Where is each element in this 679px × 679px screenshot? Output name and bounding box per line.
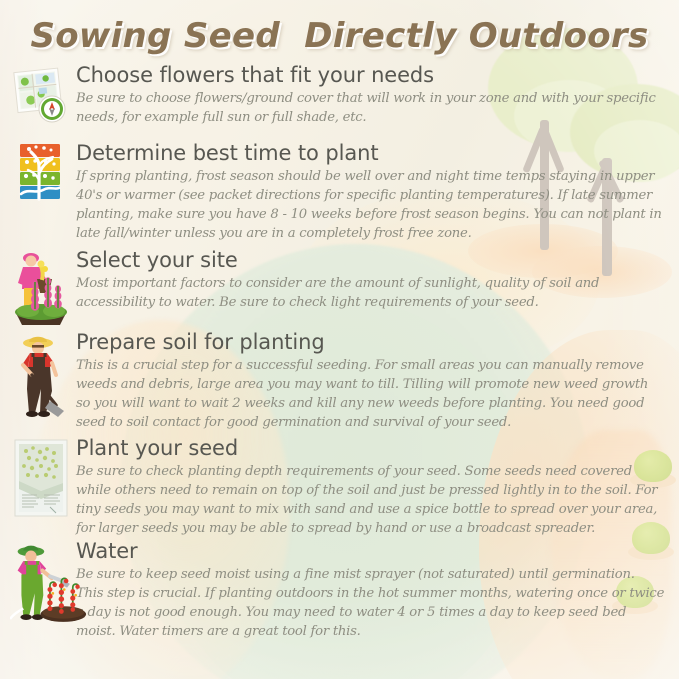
gardener-with-shovel-icon [10,331,72,417]
step-text: Be sure to keep seed moist using a fine … [76,565,665,642]
step-heading: Prepare soil for planting [76,331,665,355]
step-icon-wrap [10,331,76,417]
step-item: Choose flowers that fit your needs Be su… [0,64,679,138]
step-body: Choose flowers that fit your needs Be su… [76,64,665,127]
garden-plan-compass-icon [10,64,72,126]
page-title: Sowing Seed Directly Outdoors [0,16,679,56]
step-icon-wrap [10,437,76,519]
step-text: If spring planting, frost season should … [76,167,665,244]
step-icon-wrap [10,142,76,204]
step-heading: Select your site [76,249,665,273]
step-body: Water Be sure to keep seed moist using a… [76,540,665,641]
step-icon-wrap [10,64,76,126]
step-text: Be sure to choose flowers/ground cover t… [76,89,665,127]
infographic-poster: Sowing Seed Directly Outdoors [0,0,679,679]
step-item: Water Be sure to keep seed moist using a… [0,540,679,641]
step-heading: Choose flowers that fit your needs [76,64,665,88]
step-body: Prepare soil for planting This is a cruc… [76,331,665,432]
step-text: This is a crucial step for a successful … [76,356,665,433]
seed-packet-icon [10,437,72,519]
step-body: Select your site Most important factors … [76,249,665,312]
step-text: Be sure to check planting depth requirem… [76,462,665,539]
gardener-watering-flowers-icon [10,540,88,622]
step-heading: Plant your seed [76,437,665,461]
compass-glyph [39,96,65,122]
step-icon-wrap [10,540,76,622]
step-body: Determine best time to plant If spring p… [76,142,665,243]
step-item: Prepare soil for planting This is a cruc… [0,331,679,435]
step-heading: Water [76,540,665,564]
step-heading: Determine best time to plant [76,142,665,166]
step-item: Determine best time to plant If spring p… [0,142,679,243]
step-text: Most important factors to consider are t… [76,274,665,312]
step-body: Plant your seed Be sure to check plantin… [76,437,665,538]
four-seasons-tree-icon [10,142,72,204]
steps-list: Choose flowers that fit your needs Be su… [0,64,679,641]
step-item: Plant your seed Be sure to check plantin… [0,437,679,538]
gardener-with-flower-planter-icon [10,249,72,327]
step-icon-wrap [10,249,76,327]
step-item: Select your site Most important factors … [0,249,679,327]
